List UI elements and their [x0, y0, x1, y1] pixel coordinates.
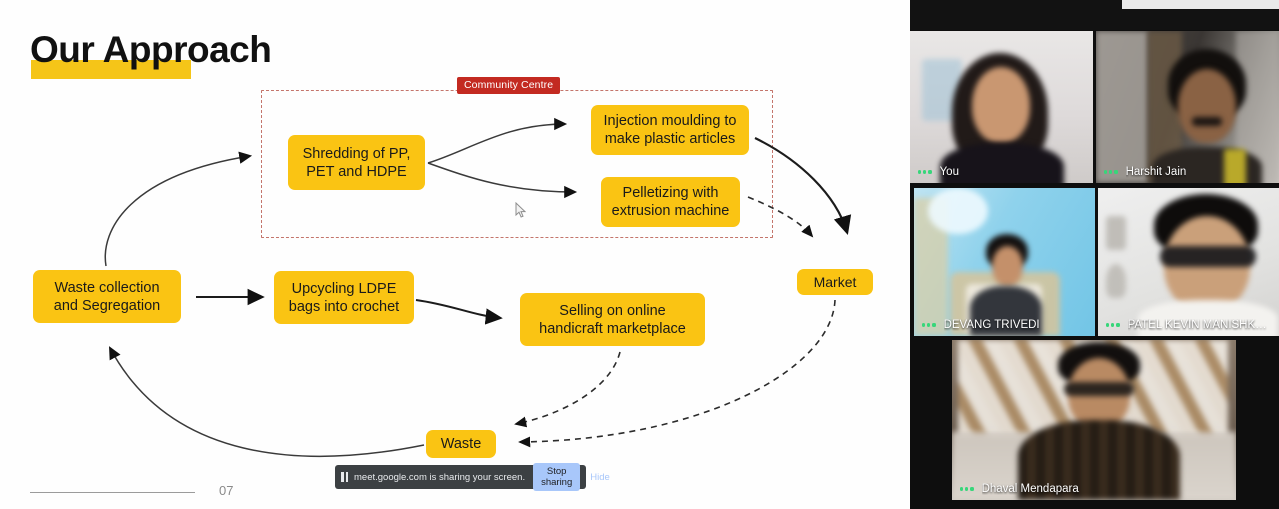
- mic-activity-icon: [918, 170, 932, 173]
- mouse-cursor-icon: [515, 202, 527, 219]
- participant-name-bar: PATEL KEVIN MANISHK…: [1098, 314, 1279, 336]
- video-feed: [952, 340, 1236, 500]
- page-title: Our Approach: [30, 29, 271, 71]
- node-injection-line1: Injection moulding to: [604, 113, 737, 129]
- participant-tile-you[interactable]: You: [910, 31, 1093, 183]
- node-waste-collection: Waste collection and Segregation: [33, 270, 181, 323]
- community-centre-label: Community Centre: [457, 77, 560, 94]
- participant-tile-dhaval-mendapara[interactable]: Dhaval Mendapara: [952, 340, 1236, 500]
- participant-name-bar: You: [910, 161, 1093, 183]
- shared-slide: Our Approach Community Centre: [0, 0, 910, 509]
- pause-icon: [341, 472, 348, 482]
- node-selling-online: Selling on online handicraft marketplace: [520, 293, 705, 346]
- node-collection-line2: and Segregation: [54, 298, 160, 314]
- meet-top-bar: [910, 0, 1279, 30]
- screen-root: Our Approach Community Centre: [0, 0, 1279, 509]
- participant-name-bar: Dhaval Mendapara: [952, 478, 1236, 500]
- node-pelletizing-line2: extrusion machine: [612, 203, 730, 219]
- node-collection-line1: Waste collection: [54, 280, 159, 296]
- node-waste: Waste: [426, 430, 496, 458]
- participant-name: PATEL KEVIN MANISHK…: [1128, 319, 1267, 331]
- node-injection-moulding: Injection moulding to make plastic artic…: [591, 105, 749, 155]
- mic-activity-icon: [1104, 170, 1118, 173]
- participant-tile-devang-trivedi[interactable]: DEVANG TRIVEDI: [914, 188, 1095, 336]
- meet-participants-panel: You Harshit Jain: [910, 0, 1279, 509]
- node-injection-line2: make plastic articles: [605, 131, 736, 147]
- stop-sharing-button[interactable]: Stop sharing: [533, 463, 580, 491]
- participant-name: Harshit Jain: [1126, 166, 1187, 178]
- participant-name: Dhaval Mendapara: [982, 483, 1079, 495]
- node-upcycling-line1: Upcycling LDPE: [292, 281, 397, 297]
- mic-activity-icon: [960, 487, 974, 490]
- participant-tile-patel-kevin[interactable]: PATEL KEVIN MANISHK…: [1098, 188, 1279, 336]
- node-upcycling-line2: bags into crochet: [289, 299, 399, 315]
- node-market: Market: [797, 269, 873, 295]
- participant-name: You: [940, 166, 959, 178]
- mic-activity-icon: [922, 323, 936, 326]
- hide-button[interactable]: Hide: [590, 472, 610, 483]
- node-selling-line2: handicraft marketplace: [539, 321, 686, 337]
- share-status-text: meet.google.com is sharing your screen.: [354, 472, 525, 483]
- participant-name-bar: DEVANG TRIVEDI: [914, 314, 1095, 336]
- node-selling-line1: Selling on online: [559, 303, 665, 319]
- page-number: 07: [219, 483, 233, 498]
- participant-name: DEVANG TRIVEDI: [944, 319, 1040, 331]
- node-pelletizing: Pelletizing with extrusion machine: [601, 177, 740, 227]
- screen-share-bar: meet.google.com is sharing your screen. …: [335, 465, 586, 489]
- page-rule: [30, 492, 195, 493]
- node-upcycling-ldpe: Upcycling LDPE bags into crochet: [274, 271, 414, 324]
- node-shredding-line1: Shredding of PP,: [303, 146, 411, 162]
- participant-name-bar: Harshit Jain: [1096, 161, 1279, 183]
- node-shredding-line2: PET and HDPE: [306, 164, 406, 180]
- node-shredding: Shredding of PP, PET and HDPE: [288, 135, 425, 190]
- participant-tile-harshit-jain[interactable]: Harshit Jain: [1096, 31, 1279, 183]
- mic-activity-icon: [1106, 323, 1120, 326]
- meet-top-strip: [1122, 0, 1279, 9]
- node-pelletizing-line1: Pelletizing with: [623, 185, 719, 201]
